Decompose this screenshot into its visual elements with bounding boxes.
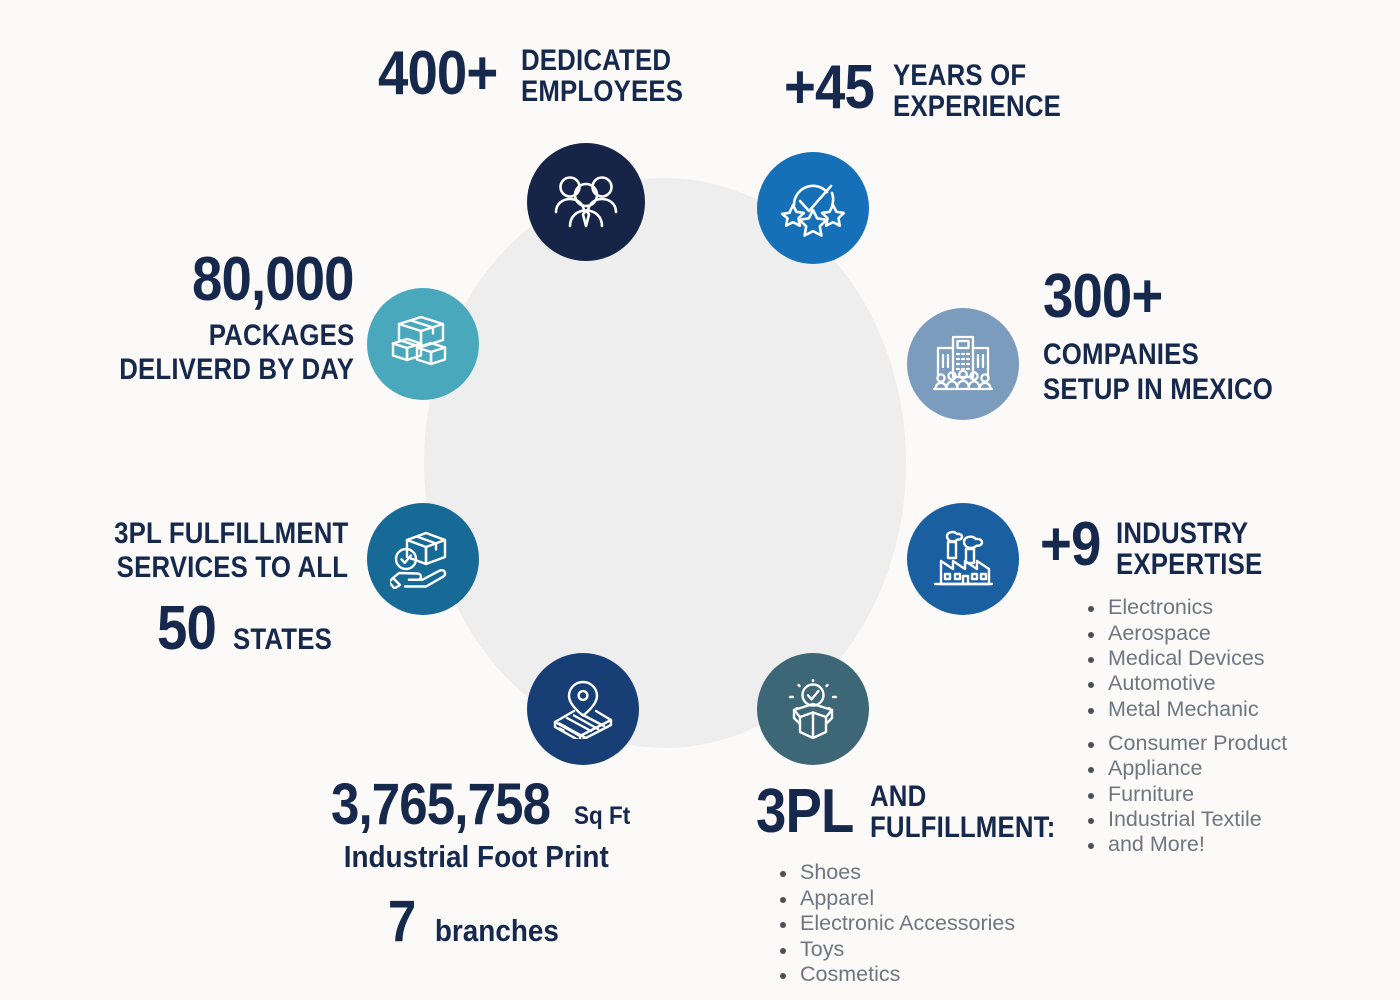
list-item: Automotive — [1082, 671, 1350, 696]
industry-expertise-label-line1: INDUSTRY — [1116, 519, 1262, 550]
threepl-services-list: Shoes Apparel Electronic Accessories Toy… — [774, 860, 1056, 987]
list-item: Aerospace — [1082, 621, 1350, 646]
hand-package-check-icon — [390, 529, 456, 589]
icon-bubble-industry-expertise — [907, 503, 1019, 615]
icon-bubble-3pl-fulfillment-states — [367, 503, 479, 615]
check-stars-icon — [781, 177, 845, 239]
industry-expertise-label-line2: EXPERTISE — [1116, 550, 1262, 581]
years-experience-label-line1: YEARS OF — [893, 61, 1061, 92]
fulfillment-label-line1: 3PL FULFILLMENT — [114, 518, 348, 549]
stat-dedicated-employees: 400+ DEDICATED EMPLOYEES — [378, 42, 696, 107]
companies-label-line1: COMPANIES — [1043, 339, 1199, 370]
threepl-label-line1: AND — [870, 782, 1055, 813]
list-item: Appliance — [1082, 756, 1350, 781]
stat-3pl-fulfillment-states: 3PL FULFILLMENT SERVICES TO ALL 50 STATE… — [100, 518, 348, 662]
list-item: Electronics — [1082, 595, 1350, 620]
fulfillment-states-number: 50 — [157, 597, 216, 661]
stat-years-experience: +45 YEARS OF EXPERIENCE — [784, 56, 1074, 122]
infographic-canvas: 400+ DEDICATED EMPLOYEES +45 YEARS OF EX… — [0, 0, 1400, 1000]
threepl-label-line2: FULFILLMENT: — [870, 813, 1055, 844]
icon-bubble-years-experience — [757, 152, 869, 264]
icon-bubble-dedicated-employees — [527, 143, 645, 261]
industry-expertise-number: +9 — [1040, 513, 1100, 577]
list-item: Cosmetics — [774, 962, 1056, 987]
list-item: Electronic Accessories — [774, 911, 1056, 936]
list-item: Toys — [774, 937, 1056, 962]
list-item: Shoes — [774, 860, 1056, 885]
boxes-icon — [391, 314, 455, 374]
icon-bubble-packages — [367, 288, 479, 400]
icon-bubble-companies — [907, 308, 1019, 420]
stat-3pl-and-fulfillment: 3PL AND FULFILLMENT: Shoes Apparel Elect… — [756, 780, 1056, 987]
fulfillment-label-line2: SERVICES TO ALL — [117, 552, 348, 583]
companies-number: 300+ — [1043, 265, 1162, 329]
factory-icon — [931, 530, 995, 588]
dedicated-employees-label-line2: EMPLOYEES — [521, 77, 683, 108]
people-group-icon — [553, 173, 619, 231]
stat-packages-delivered: 80,000 PACKAGES DELIVERD BY DAY — [96, 248, 354, 385]
stat-companies-setup: 300+ COMPANIES SETUP IN MEXICO — [1043, 265, 1343, 405]
threepl-number: 3PL — [756, 780, 853, 844]
footprint-number: 3,765,758 — [331, 775, 550, 835]
packages-number: 80,000 — [192, 248, 354, 312]
map-pin-grid-icon — [551, 679, 615, 739]
footprint-branches-label: branches — [435, 915, 559, 947]
list-item: Apparel — [774, 886, 1056, 911]
packages-label-line2: DELIVERD BY DAY — [119, 354, 354, 385]
icon-bubble-3pl-and-fulfillment — [757, 653, 869, 765]
stat-industry-expertise: +9 INDUSTRY EXPERTISE Electronics Aerosp… — [1040, 513, 1350, 858]
list-item: Metal Mechanic — [1082, 697, 1350, 722]
packages-label-line1: PACKAGES — [208, 320, 354, 351]
years-experience-number: +45 — [784, 56, 874, 120]
footprint-branches-number: 7 — [388, 892, 416, 952]
dedicated-employees-label-line1: DEDICATED — [521, 46, 683, 77]
footprint-label: Industrial Foot Print — [343, 841, 608, 873]
stat-industrial-footprint: 3,765,758 Sq Ft Industrial Foot Print 7 … — [306, 775, 646, 952]
list-item: and More! — [1082, 832, 1350, 857]
list-item: Industrial Textile — [1082, 807, 1350, 832]
list-item: Furniture — [1082, 782, 1350, 807]
fulfillment-states-suffix: STATES — [233, 624, 332, 655]
dedicated-employees-number: 400+ — [378, 42, 497, 106]
list-item: Consumer Product — [1082, 731, 1350, 756]
office-building-people-icon — [932, 335, 994, 393]
years-experience-label-line2: EXPERIENCE — [893, 92, 1061, 123]
footprint-unit: Sq Ft — [574, 803, 630, 829]
list-item: Medical Devices — [1082, 646, 1350, 671]
companies-label-line2: SETUP IN MEXICO — [1043, 374, 1273, 405]
industry-expertise-list: Electronics Aerospace Medical Devices Au… — [1082, 595, 1350, 858]
icon-bubble-industrial-footprint — [527, 653, 639, 765]
open-box-check-icon — [781, 679, 845, 739]
